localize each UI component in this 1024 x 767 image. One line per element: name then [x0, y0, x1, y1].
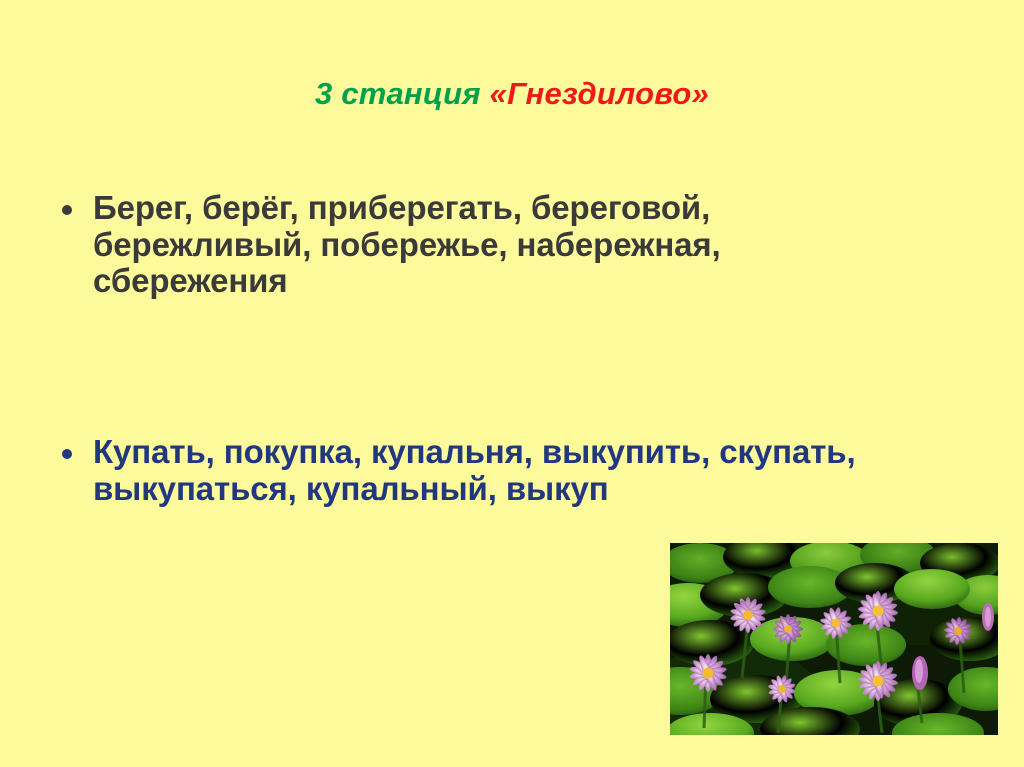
list-item-label: Купать, покупка, купальня, выкупить, ску… — [93, 434, 942, 507]
water-lilies-illustration — [670, 543, 998, 735]
water-lilies-photo — [670, 543, 998, 735]
title-place-text: «Гнездилово» — [490, 76, 709, 111]
title-station-text: 3 станция — [315, 76, 481, 111]
list-item: Берег, берёг, приберегать, береговой, бе… — [62, 190, 892, 300]
bullet-dot-icon — [62, 205, 72, 215]
slide-canvas: 3 станция«Гнездилово» Берег, берёг, приб… — [0, 0, 1024, 767]
page-title: 3 станция«Гнездилово» — [0, 74, 1024, 114]
list-item-label: Берег, берёг, приберегать, береговой, бе… — [93, 190, 892, 300]
bullet-dot-icon — [62, 449, 72, 459]
list-item: Купать, покупка, купальня, выкупить, ску… — [62, 434, 942, 507]
